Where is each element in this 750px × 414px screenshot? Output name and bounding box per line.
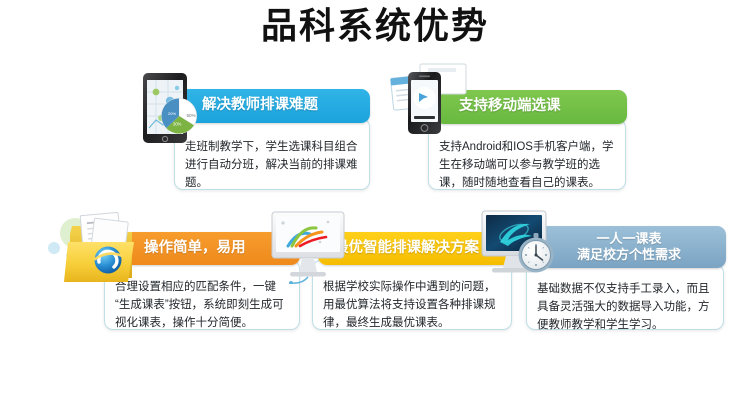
tablet-pie-chart-icon: 50% 30% 20% <box>132 70 210 150</box>
feature-card-1[interactable]: 50% 30% 20% 解决教师排课难题 走班制教学下，学生选课科目组合进行自动… <box>132 70 372 190</box>
feature-card-2[interactable]: 支持移动端选课 支持Android和IOS手机客户端，学生在移动端可以参与教学班… <box>378 62 626 190</box>
smartphone-documents-icon <box>378 62 470 144</box>
card-2-header-label: 支持移动端选课 <box>459 98 561 116</box>
card-4-header-label: 最优智能排课解决方案 <box>334 240 479 258</box>
feature-card-3[interactable]: 操作简单，易用 合理设置相应的匹配条件，一键“生成课表”按钮，系统即刻生成可视化… <box>62 208 302 330</box>
card-3-header-label: 操作简单，易用 <box>144 240 246 258</box>
folder-documents-browser-icon <box>62 208 148 288</box>
card-1-header-label: 解决教师排课难题 <box>202 97 318 115</box>
pie-label-50: 50% <box>187 113 196 118</box>
monitor-stopwatch-icon <box>478 208 568 286</box>
pie-label-20: 20% <box>168 111 176 116</box>
feature-card-5[interactable]: 一人一课表 满足校方个性需求 基础数据不仅支持手工录入，而且具备灵活强大的数据导… <box>478 208 726 330</box>
card-5-header-label: 一人一课表 满足校方个性需求 <box>577 231 681 263</box>
pie-label-30: 30% <box>173 122 182 127</box>
decorative-blob-cyan <box>48 242 60 254</box>
desktop-monitor-chart-icon <box>268 208 352 284</box>
page-title: 品科系统优势 <box>0 2 750 50</box>
